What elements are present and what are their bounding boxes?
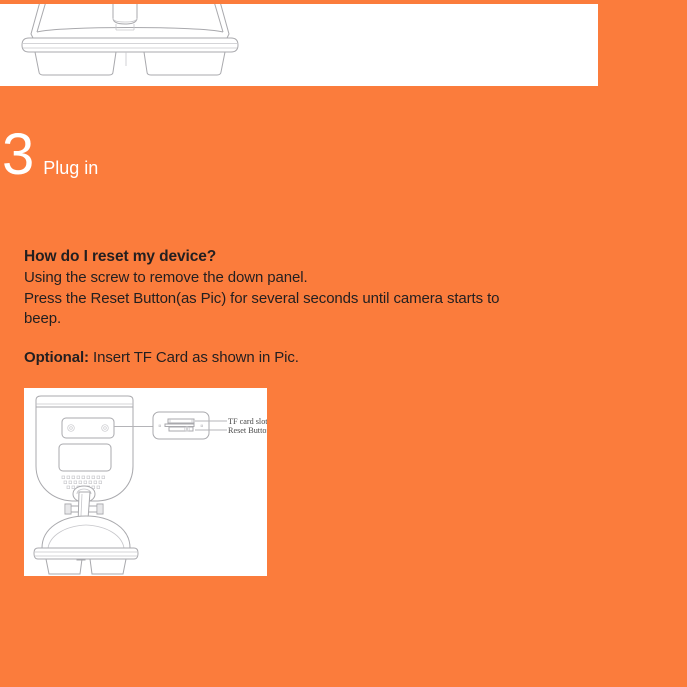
faq-line-3: beep. xyxy=(24,309,584,330)
faq-line-1: Using the screw to remove the down panel… xyxy=(24,268,584,289)
callout-label-tf-card-slot: TF card slot xyxy=(228,417,267,426)
faq-copy-block: How do I reset my device? Using the scre… xyxy=(24,246,584,330)
optional-text: Insert TF Card as shown in Pic. xyxy=(89,349,299,366)
optional-label: Optional: xyxy=(24,349,89,366)
step-title: Plug in xyxy=(43,159,98,177)
faq-line-2: Press the Reset Button(as Pic) for sever… xyxy=(24,289,584,310)
optional-note: Optional: Insert TF Card as shown in Pic… xyxy=(24,348,584,368)
faq-heading: How do I reset my device? xyxy=(24,246,584,267)
page-root: 3 Plug in How do I reset my device? Usin… xyxy=(0,0,687,687)
camera-rear-view-diagram-icon: TF card slot Reset Button xyxy=(24,388,267,576)
step-block: 3 Plug in xyxy=(2,126,98,184)
top-illustration-panel xyxy=(0,4,598,86)
step-number: 3 xyxy=(2,126,34,184)
callout-label-reset-button: Reset Button xyxy=(228,426,267,435)
diagram-panel: TF card slot Reset Button xyxy=(24,388,267,576)
camera-mount-base-bottom-view-icon xyxy=(0,4,598,86)
